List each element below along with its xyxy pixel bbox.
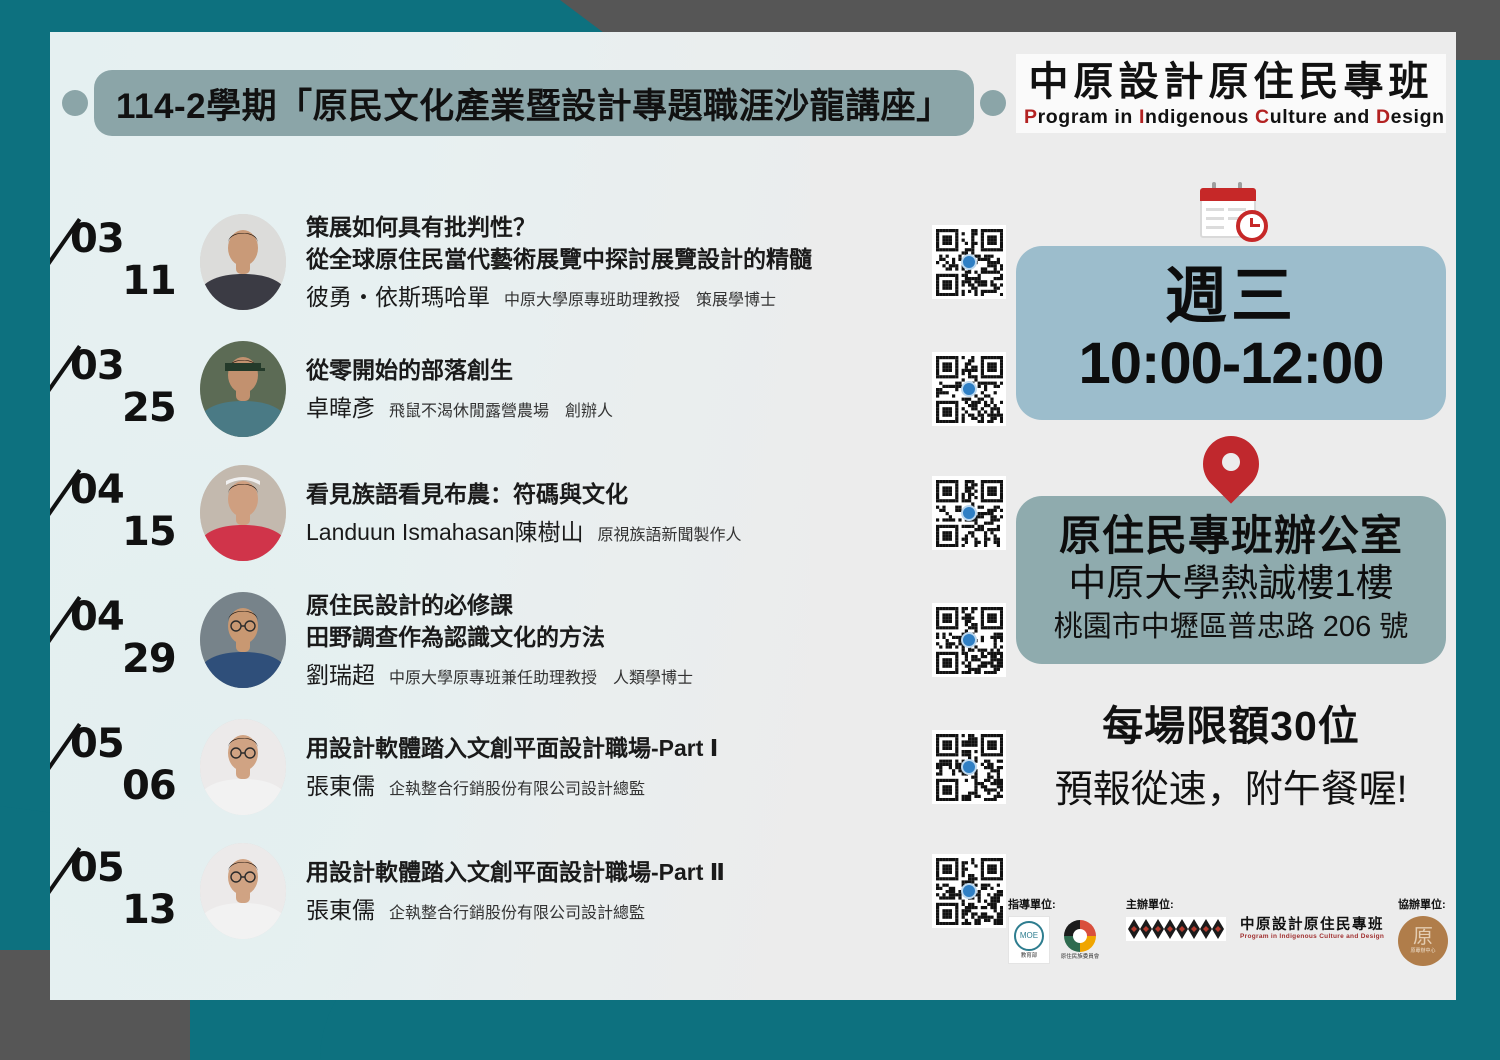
schedule-list: 0311策展如何具有批判性？從全球原住民當代藝術展覽中探討展覽設計的精髓彼勇・依… bbox=[60, 197, 1020, 953]
map-pin-icon bbox=[1203, 436, 1259, 508]
program-logo-english: Program in Indigenous Culture and Design bbox=[1024, 105, 1438, 129]
event-details: 看見族語看見布農：符碼與文化Landuun Ismahasan陳樹山原視族語新聞… bbox=[306, 479, 922, 547]
page-title: 114-2學期「原民文化產業暨設計專題職涯沙龍講座」 bbox=[116, 78, 952, 129]
capacity-cta: 預報從速，附午餐喔! bbox=[1016, 758, 1446, 813]
event-title-line-1: 原住民設計的必修課 bbox=[306, 590, 922, 621]
host-name-chinese: 中原設計原住民專班 bbox=[1240, 918, 1384, 934]
speaker-name: 張東儒 bbox=[306, 891, 375, 925]
location-building: 中原大學熱誠樓1樓 bbox=[1028, 561, 1434, 609]
event-details: 用設計軟體踏入文創平面設計職場-Part Ⅰ張東儒企執整合行銷股份有限公司設計總… bbox=[306, 733, 922, 801]
sponsor-strip: 指導單位: MOE 教育部 原住民族委員會 主辦單位: bbox=[1008, 896, 1448, 988]
calendar-clock-icon bbox=[1196, 182, 1266, 240]
title-dot-left bbox=[62, 90, 88, 116]
schedule-row: 0325從零開始的部落創生卓暐彥飛鼠不渴休閒露營農場 創辦人 bbox=[60, 327, 1020, 451]
speaker-name: 劉瑞超 bbox=[306, 656, 375, 690]
program-logo: 中原設計原住民專班 Program in Indigenous Culture … bbox=[1016, 54, 1446, 133]
speaker-avatar bbox=[200, 592, 286, 688]
location-box: 原住民專班辦公室 中原大學熱誠樓1樓 桃園市中壢區普忠路 206 號 bbox=[1016, 496, 1446, 665]
event-date: 0311 bbox=[60, 212, 200, 312]
program-logo-chinese: 中原設計原住民專班 bbox=[1024, 60, 1438, 104]
event-day: 06 bbox=[122, 763, 176, 809]
weekday-label: 週三 bbox=[1026, 264, 1436, 331]
event-day: 25 bbox=[122, 385, 176, 431]
event-day: 11 bbox=[122, 258, 176, 304]
info-column: 週三 10:00-12:00 原住民專班辦公室 中原大學熱誠樓1樓 桃園市中壢區… bbox=[1016, 182, 1446, 813]
event-date: 0415 bbox=[60, 463, 200, 563]
speaker-avatar bbox=[200, 465, 286, 561]
hours-label: 10:00-12:00 bbox=[1026, 331, 1436, 398]
speaker-avatar bbox=[200, 719, 286, 815]
qr-code-icon[interactable] bbox=[932, 603, 1006, 677]
speaker-affiliation: 飛鼠不渴休閒露營農場 創辦人 bbox=[389, 397, 613, 421]
indigenous-pattern-icon bbox=[1126, 916, 1226, 942]
qr-center-logo bbox=[961, 381, 977, 397]
speaker-name: Landuun Ismahasan陳樹山 bbox=[306, 513, 583, 547]
coorg-caption: 原專辦中心 bbox=[1410, 949, 1435, 955]
speaker-affiliation: 中原大學原專班兼任助理教授 人類學博士 bbox=[389, 664, 693, 688]
event-day: 13 bbox=[122, 887, 176, 933]
sponsor-group-coorganizer: 協辦單位: 原 原專辦中心 bbox=[1398, 896, 1448, 966]
time-box: 週三 10:00-12:00 bbox=[1016, 246, 1446, 420]
qr-center-logo bbox=[961, 759, 977, 775]
event-title-line-1: 策展如何具有批判性？ bbox=[306, 212, 922, 243]
ministry-of-education-logo: MOE 教育部 bbox=[1008, 916, 1050, 964]
speaker-avatar bbox=[200, 341, 286, 437]
event-title-line-1: 看見族語看見布農：符碼與文化 bbox=[306, 479, 922, 510]
capacity-note: 每場限額30位 預報從速，附午餐喔! bbox=[1016, 692, 1446, 813]
event-title-line-1: 用設計軟體踏入文創平面設計職場-Part Ⅱ bbox=[306, 857, 922, 888]
event-date: 0429 bbox=[60, 590, 200, 690]
event-title-line-1: 用設計軟體踏入文創平面設計職場-Part Ⅰ bbox=[306, 733, 922, 764]
qr-center-logo bbox=[961, 254, 977, 270]
speaker-avatar bbox=[200, 843, 286, 939]
event-date: 0513 bbox=[60, 841, 200, 941]
qr-code-icon[interactable] bbox=[932, 476, 1006, 550]
advisor-label: 指導單位: bbox=[1008, 896, 1102, 912]
event-day: 29 bbox=[122, 636, 176, 682]
sponsor-group-host: 主辦單位: bbox=[1126, 896, 1384, 942]
event-details: 從零開始的部落創生卓暐彥飛鼠不渴休閒露營農場 創辦人 bbox=[306, 355, 922, 423]
location-name: 原住民專班辦公室 bbox=[1028, 510, 1434, 561]
title-pill: 114-2學期「原民文化產業暨設計專題職涯沙龍講座」 bbox=[94, 70, 974, 136]
host-label: 主辦單位: bbox=[1126, 896, 1384, 912]
location-address: 桃園市中壢區普忠路 206 號 bbox=[1028, 609, 1434, 647]
speaker-affiliation: 原視族語新聞製作人 bbox=[597, 521, 741, 545]
coorg-glyph: 原 bbox=[1413, 927, 1433, 947]
capacity-limit: 每場限額30位 bbox=[1016, 692, 1446, 752]
schedule-row: 0415看見族語看見布農：符碼與文化Landuun Ismahasan陳樹山原視… bbox=[60, 451, 1020, 575]
event-title-line-2: 從全球原住民當代藝術展覽中探討展覽設計的精髓 bbox=[306, 244, 922, 275]
poster-card: 114-2學期「原民文化產業暨設計專題職涯沙龍講座」 中原設計原住民專班 Pro… bbox=[50, 32, 1456, 1000]
speaker-affiliation: 中原大學原專班助理教授 策展學博士 bbox=[504, 286, 776, 310]
qr-code-icon[interactable] bbox=[932, 854, 1006, 928]
speaker-name: 張東儒 bbox=[306, 767, 375, 801]
sponsor-group-advisor: 指導單位: MOE 教育部 原住民族委員會 bbox=[1008, 896, 1102, 964]
event-details: 策展如何具有批判性？從全球原住民當代藝術展覽中探討展覽設計的精髓彼勇・依斯瑪哈單… bbox=[306, 212, 922, 311]
speaker-affiliation: 企執整合行銷股份有限公司設計總監 bbox=[389, 775, 645, 799]
schedule-row: 0506用設計軟體踏入文創平面設計職場-Part Ⅰ張東儒企執整合行銷股份有限公… bbox=[60, 705, 1020, 829]
event-date: 0506 bbox=[60, 717, 200, 817]
indigenous-resource-center-logo: 原 原專辦中心 bbox=[1398, 916, 1448, 966]
moe-caption: 教育部 bbox=[1021, 953, 1038, 959]
council-of-indigenous-peoples-logo: 原住民族委員會 bbox=[1058, 916, 1102, 964]
title-dot-right bbox=[980, 90, 1006, 116]
event-title-line-1: 從零開始的部落創生 bbox=[306, 355, 922, 386]
speaker-avatar bbox=[200, 214, 286, 310]
coorganizer-label: 協辦單位: bbox=[1398, 896, 1448, 912]
event-day: 15 bbox=[122, 509, 176, 555]
speaker-affiliation: 企執整合行銷股份有限公司設計總監 bbox=[389, 899, 645, 923]
schedule-row: 0513用設計軟體踏入文創平面設計職場-Part Ⅱ張東儒企執整合行銷股份有限公… bbox=[60, 829, 1020, 953]
schedule-row: 0429原住民設計的必修課田野調查作為認識文化的方法劉瑞超中原大學原專班兼任助理… bbox=[60, 575, 1020, 705]
qr-center-logo bbox=[961, 505, 977, 521]
qr-center-logo bbox=[961, 632, 977, 648]
qr-center-logo bbox=[961, 883, 977, 899]
event-title-line-2: 田野調查作為認識文化的方法 bbox=[306, 622, 922, 653]
event-date: 0325 bbox=[60, 339, 200, 439]
qr-code-icon[interactable] bbox=[932, 225, 1006, 299]
cip-caption: 原住民族委員會 bbox=[1061, 954, 1100, 960]
speaker-name: 卓暐彥 bbox=[306, 389, 375, 423]
qr-code-icon[interactable] bbox=[932, 730, 1006, 804]
poster-title-row: 114-2學期「原民文化產業暨設計專題職涯沙龍講座」 bbox=[62, 68, 1002, 138]
schedule-row: 0311策展如何具有批判性？從全球原住民當代藝術展覽中探討展覽設計的精髓彼勇・依… bbox=[60, 197, 1020, 327]
event-details: 用設計軟體踏入文創平面設計職場-Part Ⅱ張東儒企執整合行銷股份有限公司設計總… bbox=[306, 857, 922, 925]
speaker-name: 彼勇・依斯瑪哈單 bbox=[306, 278, 490, 312]
host-name-english: Program in Indigenous Culture and Design bbox=[1240, 933, 1384, 940]
event-details: 原住民設計的必修課田野調查作為認識文化的方法劉瑞超中原大學原專班兼任助理教授 人… bbox=[306, 590, 922, 689]
qr-code-icon[interactable] bbox=[932, 352, 1006, 426]
